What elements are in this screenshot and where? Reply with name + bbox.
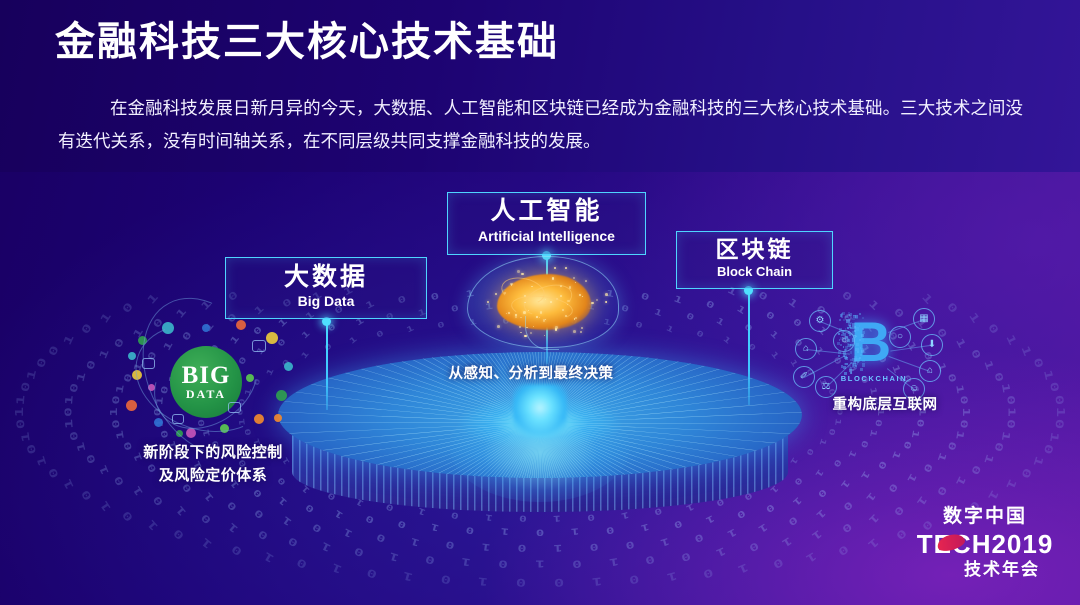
platform-core-glow — [513, 384, 567, 438]
blockchain-pixel — [838, 355, 840, 357]
slide-canvas: 金融科技三大核心技术基础 在金融科技发展日新月异的今天，大数据、人工智能和区块链… — [0, 0, 1080, 605]
blockchain-pixel — [852, 364, 854, 366]
label-box-artificial-intelligence[interactable]: 人工智能 Artificial Intelligence — [447, 192, 646, 255]
big-data-chip-icon — [252, 340, 266, 352]
binary-digit: 0 — [67, 383, 80, 394]
blockchain-pixel — [846, 319, 849, 322]
binary-digit: 0 — [79, 488, 95, 503]
binary-digit: 1 — [986, 488, 1002, 503]
blockchain-pixel — [860, 368, 863, 371]
binary-digit: 0 — [436, 320, 446, 331]
binary-digit: 0 — [816, 486, 829, 499]
binary-digit: 1 — [1006, 407, 1018, 417]
binary-digit: 1 — [15, 394, 28, 405]
binary-digit: 0 — [1048, 381, 1062, 393]
binary-digit: 0 — [921, 462, 935, 475]
binary-digit: 0 — [589, 541, 599, 553]
binary-digit: 0 — [439, 572, 451, 586]
binary-digit: 1 — [736, 561, 750, 576]
binary-digit: 1 — [858, 469, 871, 481]
label-box-block-chain[interactable]: 区块链 Block Chain — [676, 231, 833, 289]
blockchain-pixel — [849, 314, 851, 316]
blockchain-pixel — [859, 357, 861, 359]
binary-digit: 1 — [803, 549, 818, 565]
logo-line-top: 数字中国 — [905, 505, 1065, 529]
binary-digit: 0 — [747, 540, 761, 555]
binary-digit: 1 — [714, 316, 726, 328]
binary-digit: 0 — [120, 508, 136, 524]
binary-digit: 0 — [840, 499, 854, 513]
binary-digit: 0 — [694, 328, 705, 339]
binary-digit: 0 — [15, 419, 28, 430]
blockchain-pixel — [859, 313, 861, 315]
stem-big-data — [326, 320, 328, 410]
blockchain-pixel — [847, 339, 850, 342]
blockchain-pixel — [845, 363, 848, 366]
binary-digit: 1 — [672, 294, 683, 306]
binary-digit: 1 — [814, 507, 828, 521]
blockchain-graphic: B BLOCKCHAIN ⚙▦⌂⬇✐⌂⚖☺○○ — [793, 308, 951, 400]
big-data-node-icon — [126, 400, 137, 411]
binary-digit: 0 — [639, 291, 650, 303]
binary-digit: 0 — [679, 549, 692, 563]
brain-spark — [517, 270, 520, 273]
binary-digit: 1 — [982, 453, 996, 466]
binary-digit: 1 — [477, 574, 489, 587]
binary-digit: 0 — [992, 441, 1006, 453]
binary-digit: 1 — [665, 569, 678, 584]
binary-digit: 1 — [905, 472, 919, 485]
binary-digit: 0 — [199, 512, 214, 527]
blockchain-pixel — [852, 326, 855, 329]
binary-digit: 0 — [859, 439, 870, 449]
binary-digit: 1 — [954, 430, 967, 441]
binary-digit: 1 — [653, 307, 664, 318]
binary-digit: 1 — [735, 304, 747, 317]
binary-digit: 1 — [919, 291, 935, 307]
binary-digit: 0 — [628, 572, 640, 586]
binary-digit: 1 — [402, 569, 415, 584]
binary-digit: 1 — [864, 490, 878, 504]
binary-digit: 1 — [98, 310, 114, 325]
binary-digit: 1 — [1003, 333, 1019, 348]
binary-digit: 1 — [954, 384, 967, 395]
brain-spark — [497, 325, 500, 328]
blockchain-pixel — [849, 369, 852, 372]
binary-digit: 0 — [120, 300, 136, 316]
binary-digit: 1 — [818, 438, 829, 448]
blockchain-pixel — [843, 346, 845, 348]
binary-digit: 0 — [255, 527, 270, 542]
binary-digit: 0 — [35, 356, 50, 369]
binary-digit: 1 — [847, 448, 859, 459]
brain-spark — [554, 267, 556, 269]
binary-digit: 0 — [572, 557, 583, 570]
blockchain-pixel — [862, 360, 865, 363]
blockchain-pixel — [842, 337, 844, 339]
blockchain-pixel — [843, 366, 845, 368]
binary-digit: 0 — [450, 304, 460, 315]
binary-digit: 0 — [47, 344, 62, 358]
brain-spark — [581, 327, 583, 329]
binary-digit: 0 — [353, 545, 366, 560]
binary-digit: 0 — [1052, 419, 1065, 430]
caption-big-data-line1: 新阶段下的风险控制 — [108, 441, 318, 464]
binary-digit: 1 — [813, 467, 825, 479]
binary-digit: 0 — [839, 520, 854, 535]
binary-digit: 1 — [35, 454, 50, 467]
binary-digit: 1 — [347, 334, 358, 345]
binary-digit: 0 — [79, 321, 95, 336]
blockchain-pixel — [860, 354, 862, 356]
binary-digit: 1 — [535, 558, 545, 570]
brain-spark — [573, 330, 576, 333]
label-block-chain-cn: 区块链 — [677, 235, 832, 263]
page-body-paragraph: 在金融科技发展日新月异的今天，大数据、人工智能和区块链已经成为金融科技的三大核心… — [58, 92, 1023, 158]
binary-digit: 0 — [876, 459, 889, 471]
binary-digit: 0 — [770, 555, 785, 571]
blockchain-pixel — [848, 331, 850, 333]
blockchain-pixel — [855, 315, 858, 318]
binary-digit: 0 — [498, 557, 509, 570]
binary-digit: 0 — [1052, 394, 1065, 405]
brain-spark — [579, 294, 581, 296]
binary-digit: 1 — [953, 336, 968, 350]
blockchain-pixel — [855, 367, 857, 369]
binary-digit: 1 — [1031, 454, 1046, 467]
binary-digit: 1 — [98, 498, 114, 513]
binary-digit: 1 — [199, 535, 215, 551]
binary-digit: 0 — [835, 542, 851, 558]
binary-digit: 0 — [84, 359, 98, 372]
binary-digit: 1 — [14, 407, 26, 417]
blockchain-pixel — [839, 319, 841, 321]
binary-digit: 0 — [67, 430, 80, 441]
binary-digit: 0 — [47, 466, 62, 480]
big-data-chip-icon — [172, 414, 184, 424]
binary-digit: 0 — [839, 289, 854, 304]
caption-block-chain: 重构底层互联网 — [795, 394, 975, 417]
binary-digit: 1 — [25, 369, 39, 382]
brain-spark — [565, 267, 567, 269]
binary-digit: 1 — [768, 329, 780, 341]
binary-digit: 0 — [935, 484, 950, 498]
binary-digit: 1 — [329, 561, 343, 576]
blockchain-pixel — [862, 363, 865, 366]
blockchain-pixel — [856, 343, 858, 345]
binary-digit: 0 — [634, 320, 644, 331]
brain-spark — [606, 301, 607, 302]
blockchain-pixel — [857, 358, 860, 361]
binary-digit: 0 — [620, 304, 630, 315]
binary-digit: 1 — [405, 324, 415, 335]
binary-digit: 0 — [25, 443, 39, 456]
brain-spark — [585, 280, 587, 282]
binary-digit: 0 — [430, 291, 441, 303]
blockchain-pixel — [861, 334, 864, 337]
binary-digit: 0 — [516, 575, 527, 588]
binary-digit: 0 — [946, 440, 959, 452]
binary-digit: 1 — [319, 540, 333, 555]
binary-digit: 1 — [838, 478, 851, 491]
binary-digit: 0 — [827, 428, 837, 437]
blockchain-pixel — [859, 325, 861, 327]
label-block-chain-en: Block Chain — [677, 263, 832, 280]
blockchain-pixel — [844, 349, 846, 351]
blockchain-pixel — [842, 312, 845, 315]
binary-digit: 0 — [831, 458, 843, 469]
blockchain-pixel — [856, 327, 859, 330]
brain-spark — [520, 317, 521, 318]
binary-digit: 0 — [969, 347, 984, 360]
binary-digit: 0 — [517, 542, 526, 554]
binary-digit: 1 — [63, 419, 76, 430]
blockchain-pixel — [861, 338, 864, 341]
binary-digit: 0 — [1040, 443, 1054, 456]
blockchain-pixel — [844, 356, 847, 359]
blockchain-pixel — [845, 328, 847, 330]
binary-digit: 1 — [61, 333, 77, 348]
binary-digit: 1 — [1018, 344, 1033, 358]
caption-artificial-intelligence: 从感知、分析到最终决策 — [425, 363, 637, 386]
binary-digit: 1 — [63, 395, 76, 406]
binary-digit: 1 — [810, 527, 825, 542]
caption-big-data-line2: 及风险定价体系 — [108, 464, 318, 487]
blockchain-pixel — [862, 328, 865, 331]
binary-digit: 1 — [262, 549, 277, 565]
blockchain-pixel — [850, 344, 853, 347]
blockchain-pixel — [852, 369, 854, 371]
binary-digit: 0 — [1031, 356, 1046, 369]
binary-digit: 0 — [1004, 395, 1017, 406]
binary-digit: 0 — [110, 395, 122, 405]
blockchain-pixel — [852, 338, 855, 341]
big-data-node-icon — [128, 352, 136, 360]
binary-digit: 0 — [915, 418, 926, 427]
binary-digit: 1 — [935, 451, 949, 463]
blockchain-pixel — [844, 372, 847, 375]
brain-spark — [533, 326, 534, 327]
binary-digit: 1 — [1000, 383, 1013, 394]
binary-digit: 1 — [591, 574, 603, 587]
binary-digit: 1 — [108, 407, 119, 416]
blockchain-pixel — [850, 351, 852, 353]
logo-line-mid: TECH2019 — [905, 529, 1065, 559]
binary-digit: 1 — [1048, 431, 1062, 443]
binary-digit: 0 — [375, 328, 386, 339]
label-big-data-en: Big Data — [226, 292, 426, 310]
binary-digit: 0 — [704, 298, 716, 311]
brain-icon — [467, 250, 619, 358]
binary-digit: 1 — [866, 512, 881, 527]
binary-digit: 0 — [19, 381, 33, 393]
binary-digit: 0 — [295, 555, 310, 571]
big-data-node-icon — [276, 390, 287, 401]
binary-digit: 1 — [868, 429, 879, 439]
blockchain-pixel — [861, 350, 864, 353]
logo-line-bottom: 技术年会 — [905, 559, 1065, 581]
binary-digit: 0 — [225, 499, 239, 513]
binary-digit: 1 — [1000, 430, 1013, 441]
binary-digit: 1 — [481, 541, 491, 553]
binary-digit: 0 — [1018, 466, 1033, 480]
binary-digit: 1 — [865, 535, 881, 551]
binary-digit: 0 — [644, 553, 656, 567]
binary-digit: 0 — [110, 419, 122, 429]
blockchain-pixel — [839, 328, 842, 331]
binary-digit: 1 — [145, 517, 161, 533]
binary-digit: 1 — [460, 556, 471, 569]
binary-digit: 1 — [966, 310, 982, 325]
blockchain-pixel — [852, 358, 855, 361]
big-data-chip-icon — [228, 402, 241, 413]
binary-digit: 1 — [61, 477, 77, 492]
binary-digit: 1 — [833, 418, 842, 426]
binary-digit: 1 — [74, 441, 88, 453]
binary-digit: 1 — [665, 324, 675, 335]
binary-digit: 1 — [608, 556, 619, 569]
binary-digit: 0 — [986, 321, 1002, 336]
binary-digit: 1 — [388, 549, 401, 563]
binary-digit: 0 — [959, 419, 971, 429]
big-data-node-icon — [266, 332, 278, 344]
binary-digit: 0 — [171, 526, 187, 542]
blockchain-pixel — [849, 325, 852, 328]
binary-digit: 0 — [992, 370, 1006, 382]
binary-digit: 0 — [757, 289, 771, 303]
stem-block-chain — [748, 289, 750, 405]
caption-big-data: 新阶段下的风险控制 及风险定价体系 — [108, 441, 318, 487]
binary-digit: 0 — [151, 494, 166, 509]
binary-digit: 1 — [953, 474, 968, 488]
binary-digit: 1 — [1054, 407, 1066, 417]
binary-digit: 1 — [910, 429, 921, 439]
blockchain-pixel — [838, 333, 840, 335]
binary-digit: 0 — [684, 311, 695, 323]
binary-digit: 1 — [722, 334, 733, 345]
big-data-node-icon — [284, 362, 293, 371]
label-ai-en: Artificial Intelligence — [448, 227, 645, 245]
blockchain-pixel — [852, 331, 854, 333]
binary-digit: 1 — [145, 291, 161, 307]
binary-digit: 1 — [19, 431, 33, 443]
binary-digit: 1 — [714, 545, 727, 560]
binary-digit: 1 — [201, 490, 215, 504]
label-big-data-cn: 大数据 — [226, 262, 426, 292]
event-logo: 数字中国 TECH2019 技术年会 — [905, 505, 1065, 597]
binary-digit: 1 — [173, 503, 188, 518]
binary-digit: 1 — [97, 347, 112, 360]
binary-digit: 0 — [764, 310, 777, 323]
binary-digit: 0 — [251, 486, 264, 499]
binary-digit: 0 — [701, 565, 715, 580]
blockchain-pixel — [843, 333, 846, 336]
big-data-node-icon — [274, 414, 282, 422]
brain-spark — [487, 301, 489, 303]
blockchain-pixel — [850, 372, 852, 374]
binary-digit: 0 — [969, 463, 984, 476]
binary-digit: 1 — [1003, 477, 1019, 492]
big-data-node-icon — [154, 418, 163, 427]
blockchain-pixel — [840, 344, 842, 346]
binary-digit: 0 — [886, 481, 900, 495]
binary-digit: 0 — [873, 418, 883, 427]
brain-spark — [596, 299, 598, 301]
binary-digit: 0 — [230, 542, 246, 558]
blockchain-pixel — [849, 334, 851, 336]
brain-spark — [555, 326, 558, 329]
binary-digit: 1 — [982, 359, 996, 372]
binary-digit: 0 — [1004, 419, 1017, 430]
blockchain-pixel — [838, 351, 841, 354]
blockchain-pixel — [857, 351, 859, 353]
page-title: 金融科技三大核心技术基础 — [55, 16, 559, 68]
big-data-chip-icon — [142, 358, 155, 369]
binary-digit: 0 — [365, 565, 379, 580]
brain-spark — [575, 317, 577, 319]
binary-digit: 1 — [300, 329, 312, 341]
binary-digit: 0 — [84, 453, 98, 466]
binary-digit: 1 — [553, 542, 562, 554]
blockchain-pixel — [843, 319, 845, 321]
label-box-big-data[interactable]: 大数据 Big Data — [225, 257, 427, 319]
binary-digit: 0 — [251, 507, 265, 521]
brain-spark — [575, 282, 576, 283]
blockchain-pixel — [862, 317, 864, 319]
binary-digit: 0 — [554, 575, 565, 588]
binary-digit: 0 — [901, 439, 913, 450]
binary-digit: 1 — [74, 370, 88, 382]
binary-digit: 0 — [62, 407, 74, 417]
binary-digit: 0 — [424, 553, 436, 567]
brain-spark — [605, 293, 608, 296]
binary-digit: 1 — [890, 450, 902, 461]
brain-spark — [521, 273, 523, 275]
label-ai-cn: 人工智能 — [448, 196, 645, 227]
binary-digit: 1 — [226, 520, 241, 535]
big-data-graphic: BIG DATA — [124, 318, 296, 440]
binary-digit: 1 — [1040, 369, 1054, 382]
